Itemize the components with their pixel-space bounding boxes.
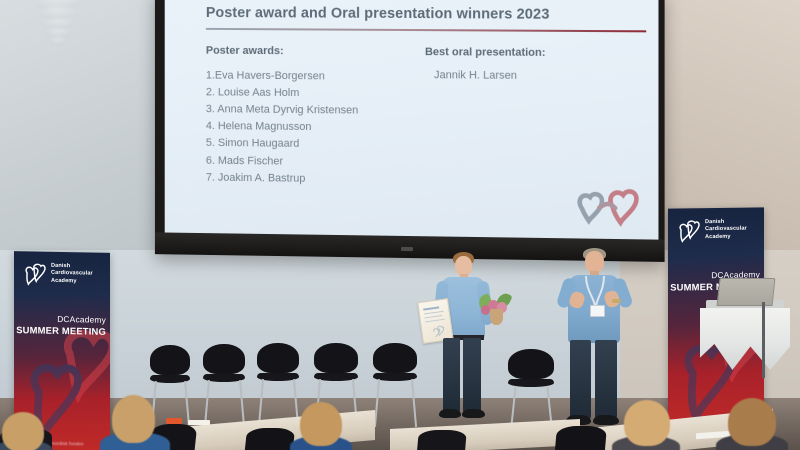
head (455, 256, 472, 276)
shoe-left (439, 409, 461, 418)
dca-heart-logo (21, 261, 47, 285)
poster-award-item: 1.Eva Havers-Borgersen (206, 67, 425, 86)
slide-surface: Poster award and Oral presentation winne… (165, 0, 659, 240)
poster-award-item: 5. Simon Haugaard (206, 135, 425, 154)
oral-presentation-winner: Jannik H. Larsen (425, 69, 636, 83)
banner-org-line-2: Cardiovascular (705, 226, 747, 234)
chair (150, 345, 190, 383)
banner-org-name: Danish Cardiovascular Academy (705, 219, 747, 241)
leg-left (443, 338, 460, 414)
poster-award-item: 7. Joakim A. Bastrup (206, 169, 425, 189)
slide-content: Poster award and Oral presentation winne… (165, 0, 659, 240)
chair (373, 343, 417, 381)
leg-right (463, 338, 481, 414)
chair-back-foreground (417, 430, 467, 450)
poster-award-item: 2. Louise Aas Holm (206, 84, 425, 103)
cable (762, 302, 765, 378)
banner-title-line-1: DCAcademy (14, 313, 106, 325)
chair-back-foreground (245, 428, 295, 450)
banner-org-line-3: Academy (705, 233, 747, 241)
oral-presentation-heading: Best oral presentation: (425, 46, 636, 59)
banner-org-line-3: Academy (51, 277, 93, 285)
banner-org-name: Danish Cardiovascular Academy (51, 263, 93, 285)
banner-title-line-2: SUMMER MEETING (14, 324, 106, 337)
shoe-right (462, 409, 485, 418)
banner-logo-lockup: Danish Cardiovascular Academy (21, 261, 93, 286)
leg-right (595, 340, 617, 420)
shoe-right (593, 415, 619, 425)
chair (314, 343, 358, 381)
flower-bouquet (478, 293, 512, 325)
banner-title: DCAcademy SUMMER MEETING (14, 313, 106, 337)
poster-awards-column: Poster awards: 1.Eva Havers-Borgersen 2.… (206, 44, 425, 189)
dca-heart-logo (569, 180, 648, 233)
slide-title-rule (206, 28, 646, 32)
conference-photo: Poster award and Oral presentation winne… (0, 0, 800, 450)
ceiling-lamp-icon (32, 0, 84, 54)
chair (257, 343, 299, 381)
paper-on-table (188, 420, 210, 425)
leg-left (570, 340, 591, 420)
chair-on-stage (508, 349, 554, 389)
poster-award-item: 3. Anna Meta Dyrvig Kristensen (206, 101, 425, 120)
projection-screen: Poster award and Oral presentation winne… (155, 0, 665, 262)
name-badge (590, 305, 605, 317)
poster-award-item: 4. Helena Magnusson (206, 118, 425, 137)
chair-back-foreground (555, 426, 607, 450)
banner-logo-lockup: Danish Cardiovascular Academy (675, 218, 747, 243)
chair (203, 344, 245, 382)
laptop-icon (717, 278, 776, 306)
screen-brand-mark (401, 247, 413, 251)
slide-title: Poster award and Oral presentation winne… (206, 5, 636, 23)
wristwatch-icon (612, 299, 621, 303)
dca-heart-logo (675, 218, 701, 242)
head (585, 251, 604, 273)
oral-presentation-column: Best oral presentation: Jannik H. Larsen (425, 46, 636, 192)
poster-awards-heading: Poster awards: (206, 44, 425, 57)
